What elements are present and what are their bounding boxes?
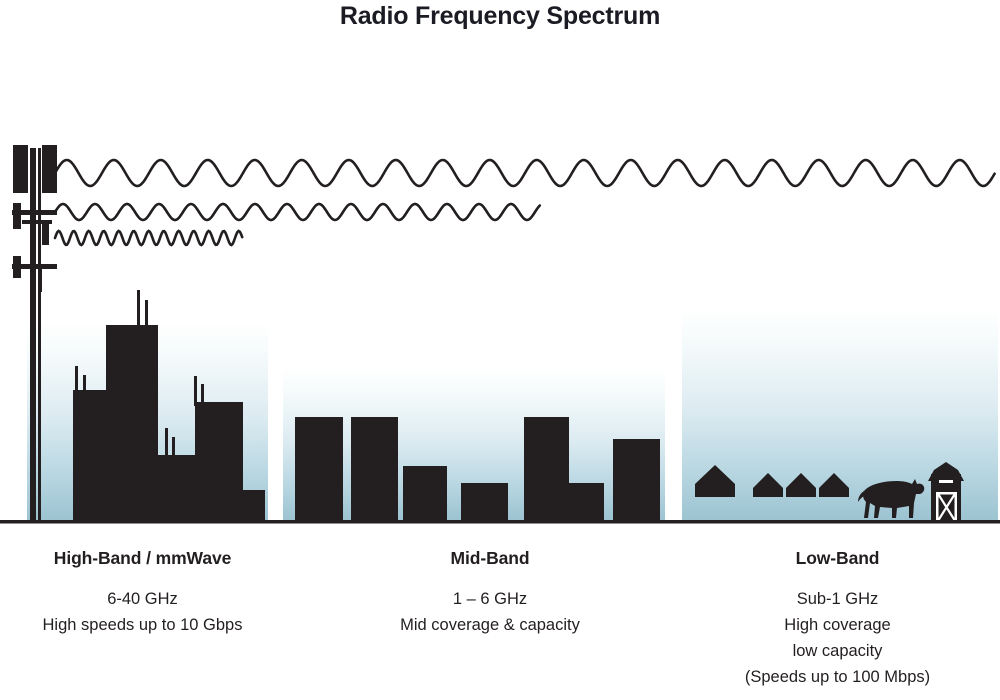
building — [243, 490, 265, 520]
tower-mast-right — [38, 148, 41, 520]
band-extra-low-2: (Speeds up to 100 Mbps) — [675, 664, 1000, 690]
band-frequency-low: Sub-1 GHz — [675, 586, 1000, 612]
building-spire — [145, 300, 148, 325]
low-band-wave — [55, 160, 995, 186]
building — [73, 390, 106, 520]
mid-band-wave — [55, 204, 540, 220]
ground-line — [0, 520, 1000, 524]
building — [158, 455, 195, 520]
barn-hayloft-vent — [939, 480, 953, 483]
building — [613, 439, 660, 520]
band-title-low: Low-Band — [675, 548, 1000, 569]
tower-antenna-panel-top-left — [13, 145, 28, 193]
band-capability-low: High coverage — [675, 612, 1000, 638]
band-description-mid: 1 – 6 GHz Mid coverage & capacity — [330, 586, 650, 638]
tower-antenna-panel-mid-right — [42, 222, 49, 245]
band-column-low: Low-Band Sub-1 GHz High coverage low cap… — [675, 548, 1000, 690]
band-title-mid: Mid-Band — [330, 548, 650, 569]
tower-antenna-panel-top-right — [42, 145, 57, 193]
tower-mast-stub — [38, 268, 42, 292]
building-spire — [165, 428, 168, 456]
building — [569, 483, 604, 520]
radio-waves — [55, 160, 995, 245]
band-title-high: High-Band / mmWave — [0, 548, 285, 569]
band-capability-high: High speeds up to 10 Gbps — [0, 612, 285, 638]
building — [295, 417, 343, 520]
building-spire — [194, 376, 197, 406]
band-description-high: 6-40 GHz High speeds up to 10 Gbps — [0, 586, 285, 638]
tower-antenna-panel-low-left — [13, 256, 21, 278]
building — [351, 417, 398, 520]
band-frequency-high: 6-40 GHz — [0, 586, 285, 612]
building — [403, 466, 447, 520]
band-column-high: High-Band / mmWave 6-40 GHz High speeds … — [0, 548, 285, 638]
building — [195, 402, 243, 520]
building — [524, 417, 569, 520]
high-band-wave — [55, 231, 242, 245]
band-frequency-mid: 1 – 6 GHz — [330, 586, 650, 612]
infographic-root: Radio Frequency Spectrum — [0, 0, 1000, 700]
band-description-low: Sub-1 GHz High coverage low capacity (Sp… — [675, 586, 1000, 690]
building — [106, 325, 158, 520]
band-column-mid: Mid-Band 1 – 6 GHz Mid coverage & capaci… — [330, 548, 650, 638]
building-spire — [137, 290, 140, 325]
tower-mast-left — [30, 148, 36, 520]
band-capability-mid: Mid coverage & capacity — [330, 612, 650, 638]
building — [461, 483, 508, 520]
building-spire — [172, 437, 175, 456]
tower-antenna-panel-mid-left — [13, 203, 21, 229]
band-extra-low-1: low capacity — [675, 638, 1000, 664]
